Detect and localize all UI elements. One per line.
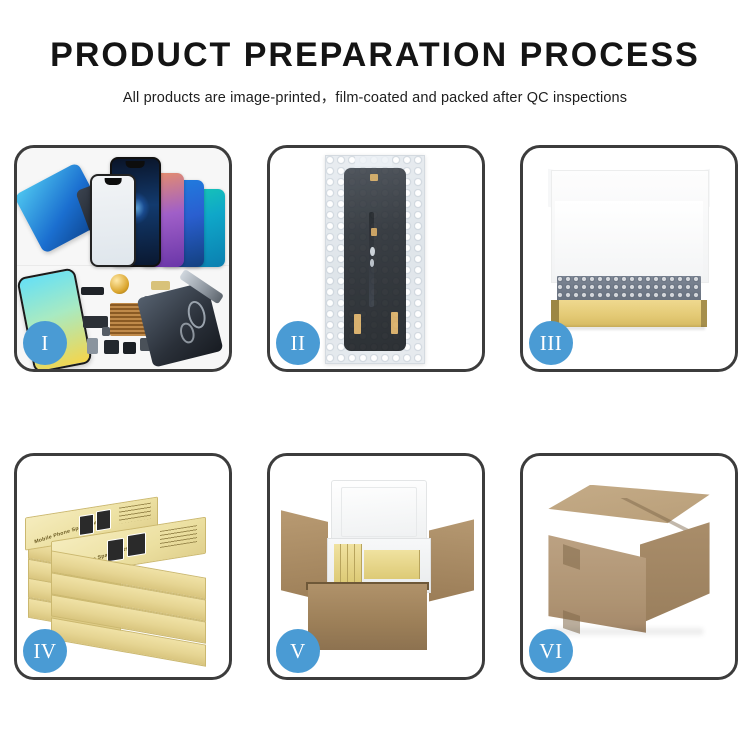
process-step-panel-2: II xyxy=(267,145,485,372)
page-title: PRODUCT PREPARATION PROCESS xyxy=(0,38,750,72)
vibrator-icon xyxy=(123,342,136,353)
sensor-hole-icon xyxy=(370,259,374,266)
step-badge-2: II xyxy=(276,321,320,365)
foam-lid-icon xyxy=(331,480,426,544)
step-badge-6: VI xyxy=(529,629,573,673)
speaker-icon xyxy=(104,340,119,353)
sim-tray-icon xyxy=(87,338,98,353)
box-shadow xyxy=(553,326,706,330)
camera-hole-icon xyxy=(370,247,374,256)
screen-assembly-icon xyxy=(344,168,406,351)
kraft-box-end-right-icon xyxy=(701,300,707,327)
yellow-boxes-group xyxy=(334,544,423,582)
screen-protector-icon xyxy=(90,174,136,267)
phone-notch-icon xyxy=(126,161,145,168)
gold-tab-top-icon xyxy=(370,174,378,181)
protector-notch-icon xyxy=(105,178,122,185)
gold-connector-icon xyxy=(151,281,170,291)
bubble-wrap-bag xyxy=(325,155,425,365)
phone-lineup xyxy=(102,161,225,267)
phone-thumbnail-icon xyxy=(96,509,111,531)
process-step-panel-1: I xyxy=(14,145,232,372)
yellow-box-item xyxy=(341,544,348,582)
page-subtitle: All products are image-printed，film-coat… xyxy=(0,86,750,107)
gold-tab-right-icon xyxy=(391,312,398,334)
step-badge-3: III xyxy=(529,321,573,365)
yellow-box-stack xyxy=(364,550,420,579)
kraft-box-front-icon xyxy=(551,300,708,327)
phone-thumbnail-icon xyxy=(79,513,94,535)
process-step-panel-6: VI xyxy=(520,453,738,680)
carton-flap-right-icon xyxy=(429,519,474,601)
process-step-grid: I II xyxy=(14,145,738,680)
carton-front-icon xyxy=(308,584,427,650)
bag-seal-icon xyxy=(355,156,392,166)
process-step-panel-5: V xyxy=(267,453,485,680)
step-badge-5: V xyxy=(276,629,320,673)
phone-thumbnail-icon xyxy=(127,532,146,557)
page-header: PRODUCT PREPARATION PROCESS All products… xyxy=(0,0,750,107)
flex-cable-icon xyxy=(81,287,104,295)
foam-sheet-icon xyxy=(555,201,703,276)
gold-tab-mid-icon xyxy=(371,228,377,235)
process-step-panel-4: Mobile Phone Spare Parts Mobile Phone Sp… xyxy=(14,453,232,680)
phone-thumbnail-icon xyxy=(107,538,124,563)
process-step-panel-3: III xyxy=(520,145,738,372)
carton-shadow xyxy=(551,628,704,635)
screw-set-icon xyxy=(102,327,110,336)
yellow-box-item xyxy=(348,544,355,582)
step-badge-4: IV xyxy=(23,629,67,673)
gold-tab-left-icon xyxy=(354,314,361,334)
step-badge-1: I xyxy=(23,321,67,365)
yellow-box-item xyxy=(355,544,362,582)
